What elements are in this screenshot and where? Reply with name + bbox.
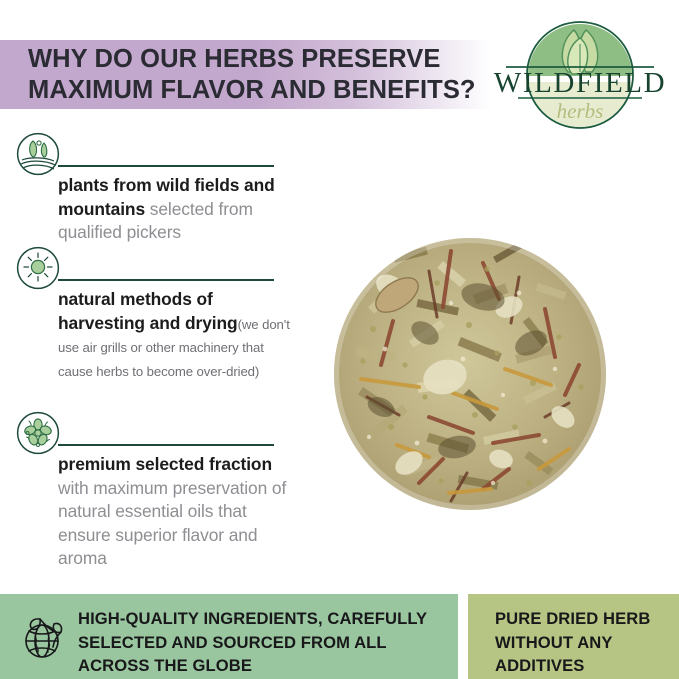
benefit-text-3: premium selected fraction with maximum p… <box>58 453 290 571</box>
benefit-rule-3 <box>58 444 274 446</box>
globe-leaf-icon <box>18 610 70 662</box>
benefit-text-2: natural methods of harvesting and drying… <box>58 288 290 382</box>
benefit-bold-3: premium selected fraction <box>58 454 272 474</box>
banner-high-quality: HIGH-QUALITY INGREDIENTS, CAREFULLY SELE… <box>0 594 458 679</box>
wild-field-plants-icon <box>16 132 60 176</box>
page-title: WHY DO OUR HERBS PRESERVE MAXIMUM FLAVOR… <box>28 44 478 106</box>
brand-sub-wordmark: herbs <box>557 99 604 123</box>
banner-pure-dried: PURE DRIED HERB WITHOUT ANY ADDITIVES <box>468 594 679 679</box>
infographic-page: WHY DO OUR HERBS PRESERVE MAXIMUM FLAVOR… <box>0 0 679 679</box>
benefit-rule-2 <box>58 279 274 281</box>
benefit-rule-1 <box>58 165 274 167</box>
dried-herb-pile-photo <box>333 237 607 511</box>
benefit-regular-3: with maximum preservation of natural ess… <box>58 478 286 569</box>
benefit-text-1: plants from wild fields and mountains se… <box>58 174 290 245</box>
benefit-bold-2: natural methods of harvesting and drying <box>58 289 238 333</box>
brand-logo: WILDFIELD herbs <box>490 14 670 136</box>
herb-flower-icon <box>16 411 60 455</box>
brand-wordmark: WILDFIELD <box>494 67 666 99</box>
banner-left-text: HIGH-QUALITY INGREDIENTS, CAREFULLY SELE… <box>78 607 448 678</box>
banner-right-text: PURE DRIED HERB WITHOUT ANY ADDITIVES <box>495 607 675 678</box>
sun-drying-icon <box>16 246 60 290</box>
